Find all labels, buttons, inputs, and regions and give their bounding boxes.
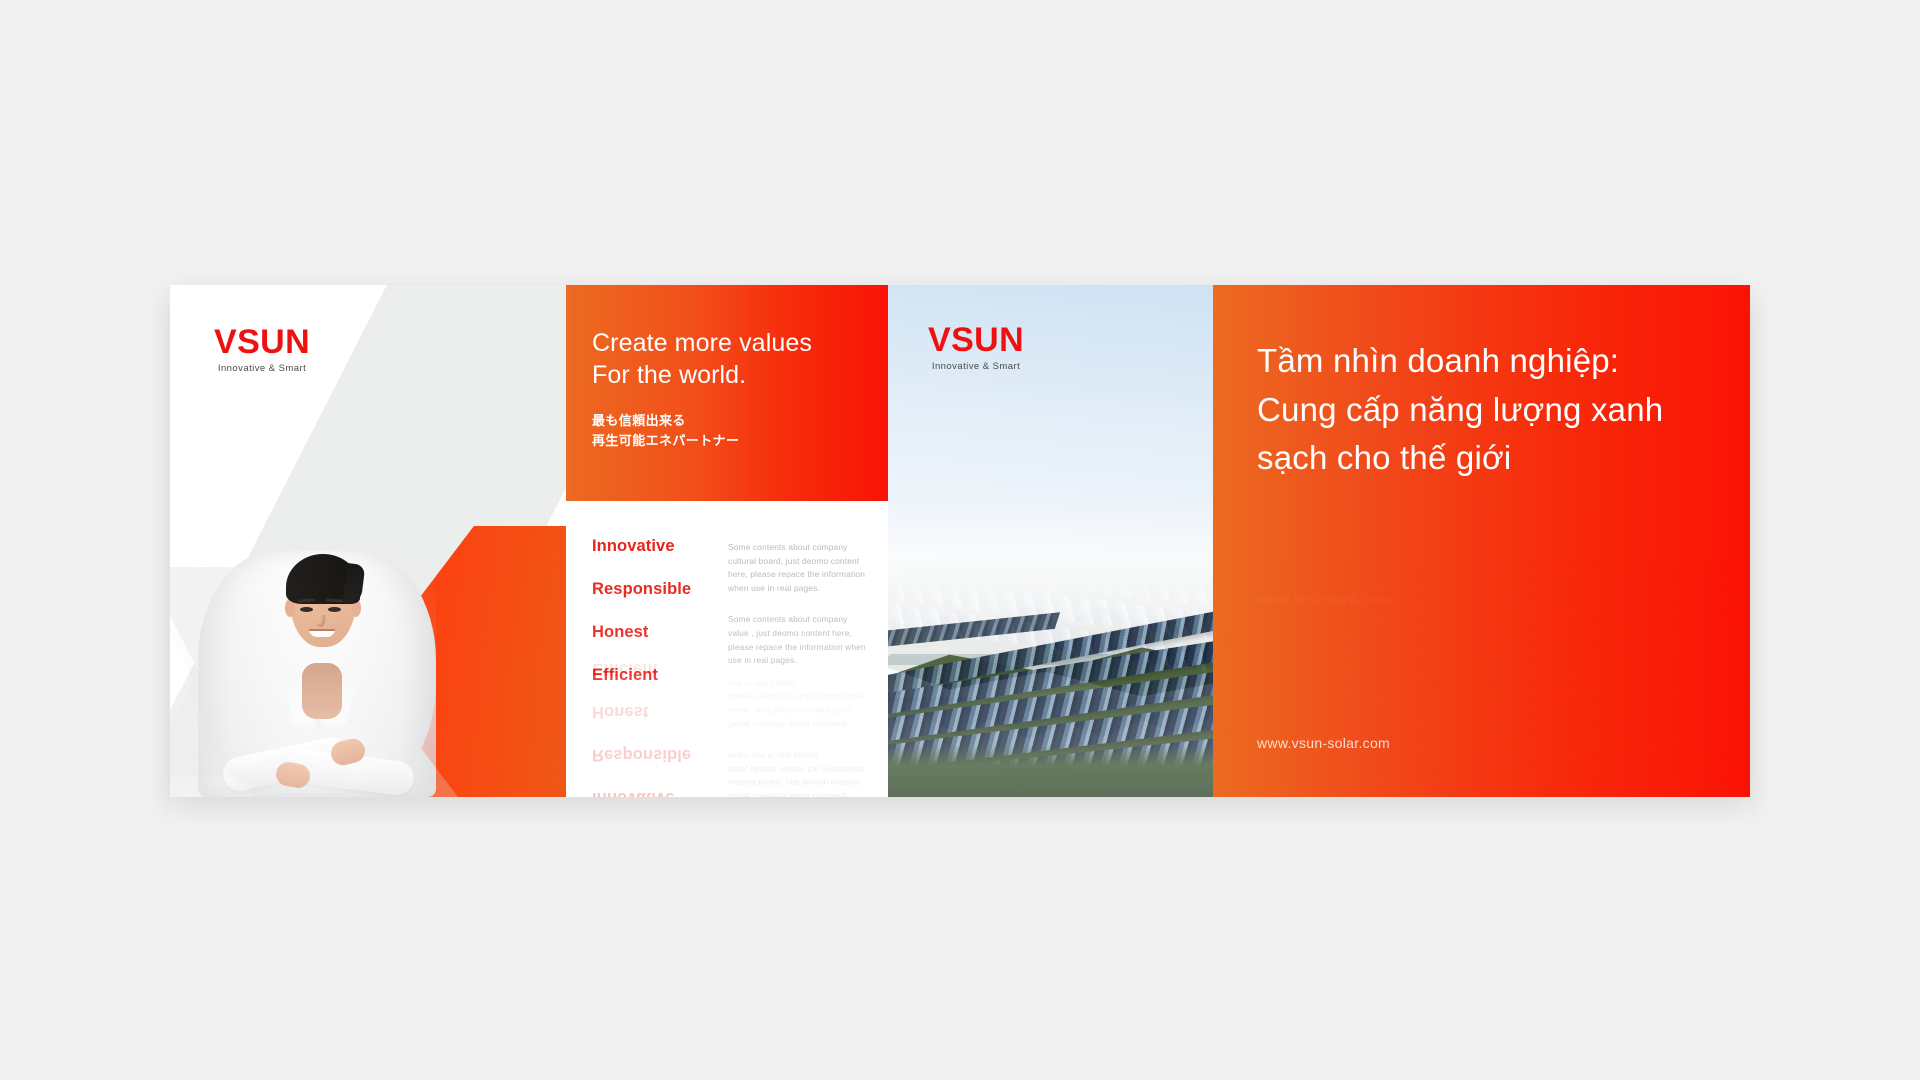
hero-subtitle-line-2: 再生可能エネパートナー — [592, 431, 888, 451]
panel-vision: Tầm nhìn doanh nghiệp: Cung cấp năng lượ… — [1213, 285, 1750, 797]
neck-shape — [302, 663, 342, 719]
mockup-stage: VSUN Innovative & Smart Create more valu… — [0, 0, 1920, 1080]
panel-solar-photo: VSUN Innovative & Smart — [888, 285, 1213, 797]
reflection-fade-overlay — [170, 797, 1750, 1047]
hero-subtitle-line-1: 最も信頼出来る — [592, 411, 888, 431]
logo-tagline: Innovative & Smart — [214, 363, 310, 374]
value-item: Honest — [592, 623, 710, 642]
value-paragraph: Some contents about company value , just… — [728, 613, 870, 667]
hero-subtitle: 最も信頼出来る 再生可能エネパートナー — [592, 411, 888, 450]
hero-title-line-2: For the world. — [592, 359, 888, 391]
mouth-shape — [309, 629, 335, 637]
hero-block: Create more values For the world. 最も信頼出来… — [566, 285, 888, 501]
nose-shape — [316, 615, 325, 627]
vsun-logo-cover: VSUN Innovative & Smart — [214, 325, 310, 374]
value-item: Responsible — [592, 580, 710, 599]
logo-wordmark: VSUN — [214, 325, 310, 359]
eye-left-shape — [300, 607, 313, 612]
vsun-logo-photo: VSUN Innovative & Smart — [928, 323, 1024, 372]
hero-title-line-1: Create more values — [592, 327, 888, 359]
value-paragraph: Some contents about company cultural boa… — [728, 541, 870, 595]
hero-title: Create more values For the world. — [592, 327, 888, 391]
panel-values: Create more values For the world. 最も信頼出来… — [566, 285, 888, 797]
panel-cover: VSUN Innovative & Smart — [170, 285, 566, 797]
value-item: Efficient — [592, 666, 710, 685]
values-paragraphs: Some contents about company cultural boa… — [728, 537, 870, 797]
values-body: Innovative Responsible Honest Efficient … — [566, 501, 888, 797]
eye-right-shape — [328, 607, 341, 612]
brochure-board: VSUN Innovative & Smart Create more valu… — [170, 285, 1750, 797]
website-url: www.vsun-solar.com — [1257, 735, 1390, 751]
logo-tagline: Innovative & Smart — [928, 361, 1024, 372]
tree-line-shape — [888, 745, 1213, 797]
vision-title: Tầm nhìn doanh nghiệp: Cung cấp năng lượ… — [1257, 337, 1706, 483]
logo-wordmark: VSUN — [928, 323, 1024, 357]
businessman-photo — [198, 449, 436, 797]
values-list: Innovative Responsible Honest Efficient — [592, 537, 710, 797]
value-item: Innovative — [592, 537, 710, 556]
